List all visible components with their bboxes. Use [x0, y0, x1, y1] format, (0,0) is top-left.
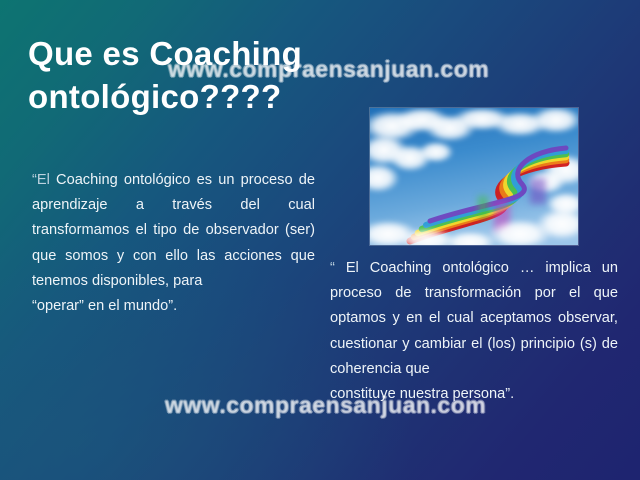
quote-left-body: Coaching ontológico es un proceso de apr… — [32, 172, 315, 289]
rainbow-road-clouds-photo — [370, 108, 578, 245]
quote-right-body: El Coaching ontológico … implica un proc… — [330, 260, 618, 377]
quote-left-last-line: “operar” en el mundo”. — [32, 294, 315, 319]
quote-right-last-line: constituye nuestra persona”. — [330, 382, 618, 407]
page-title: Que es Coaching ontológico???? — [28, 32, 388, 118]
quote-left: “El Coaching ontológico es un proceso de… — [32, 168, 315, 319]
slide-canvas: Que es Coaching ontológico???? www.compr… — [0, 0, 640, 480]
quote-right: “ El Coaching ontológico … implica un pr… — [330, 256, 618, 407]
rainbow-illustration-icon — [370, 108, 578, 245]
quote-left-lead: “El — [32, 172, 50, 188]
